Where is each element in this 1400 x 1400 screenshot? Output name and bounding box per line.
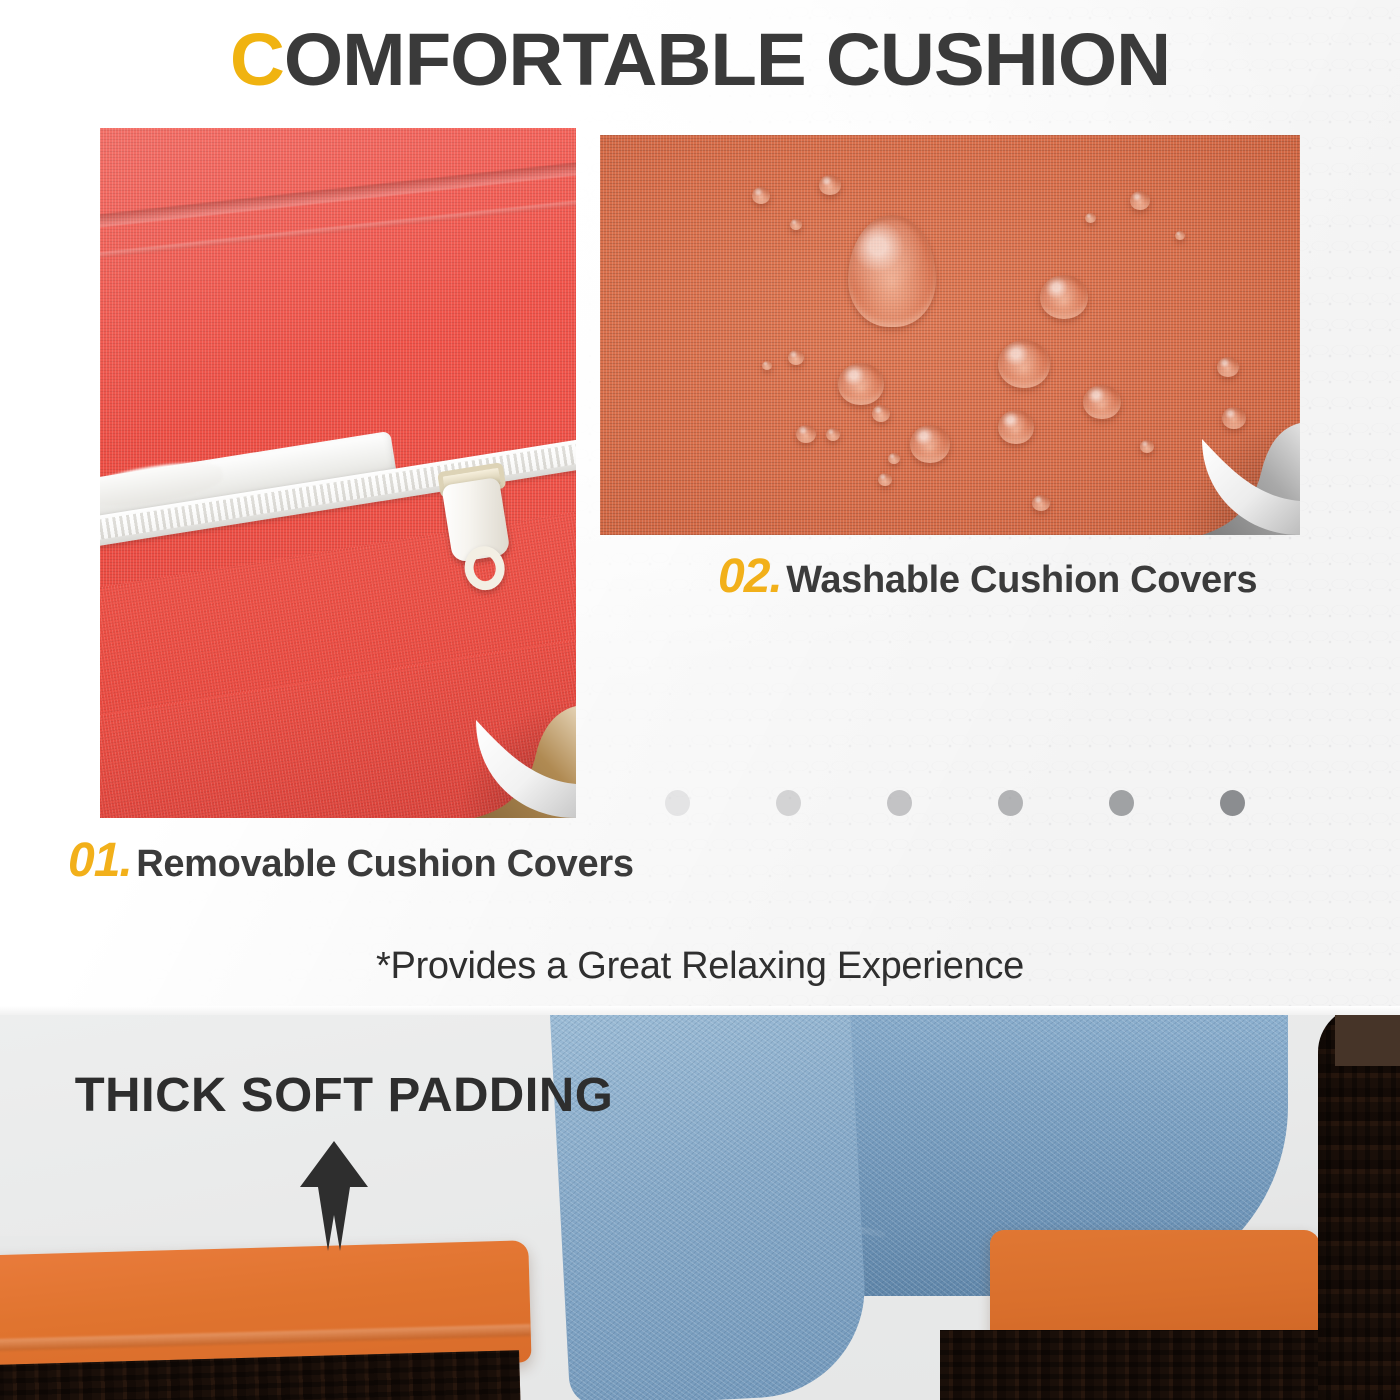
tagline: *Provides a Great Relaxing Experience [0,945,1400,988]
feature-caption-02: 02. Washable Cushion Covers [718,549,1257,604]
ottoman [0,1248,530,1400]
water-droplet [796,425,816,443]
water-droplet [819,175,841,195]
water-droplet [998,340,1050,388]
decor-dot [1220,790,1245,816]
feature-label-02: Washable Cushion Covers [786,559,1257,601]
water-droplet [788,350,804,365]
padding-title: THICK SOFT PADDING [75,1068,614,1123]
person-knee-denim [550,1006,870,1400]
chair-wicker-base [940,1330,1360,1400]
feature-image-removable-covers [100,128,576,818]
water-droplet [1032,495,1050,511]
dot-row-decoration [665,790,1245,816]
title-rest: OMFORTABLE CUSHION [284,18,1170,101]
ottoman-cushion-fold [0,1324,531,1352]
decor-dot [998,790,1023,816]
water-droplet [1130,191,1150,210]
water-droplet [762,361,772,370]
feature-caption-01: 01. Removable Cushion Covers [68,833,634,888]
water-droplet [998,410,1034,444]
feature-label-01: Removable Cushion Covers [136,843,634,885]
section-divider [0,1006,1400,1015]
decor-dot [1109,790,1134,816]
feature-number-02: 02. [718,550,782,603]
feature-image-washable-covers [600,135,1300,535]
water-droplet [790,219,802,230]
water-droplet [1083,385,1121,419]
decor-dot [665,790,690,816]
water-droplet [872,405,890,422]
water-droplet [1222,407,1246,429]
water-droplet [1175,231,1185,240]
title-highlight-char: C [230,18,284,101]
decor-dot [887,790,912,816]
bottom-photo-section [0,1006,1400,1400]
water-droplet [910,425,950,463]
page-title: COMFORTABLE CUSHION [0,22,1400,97]
water-droplet [1085,213,1096,223]
water-droplet [752,187,770,204]
water-droplet [838,363,884,405]
water-droplet [1217,357,1239,377]
arrow-up-icon [296,1141,372,1251]
decor-dot [776,790,801,816]
infographic-page: COMFORTABLE CUSHION [0,0,1400,1400]
fabric-weave-texture-orange [600,135,1300,535]
water-droplet [1040,275,1088,319]
water-droplet [888,453,900,464]
water-droplet [826,428,840,441]
water-droplet [878,473,892,486]
feature-number-01: 01. [68,834,132,887]
waterproof-fabric [600,135,1300,535]
chair-wicker-back [1335,1006,1400,1066]
denim-texture [550,1006,870,1400]
water-droplet [1140,440,1154,453]
